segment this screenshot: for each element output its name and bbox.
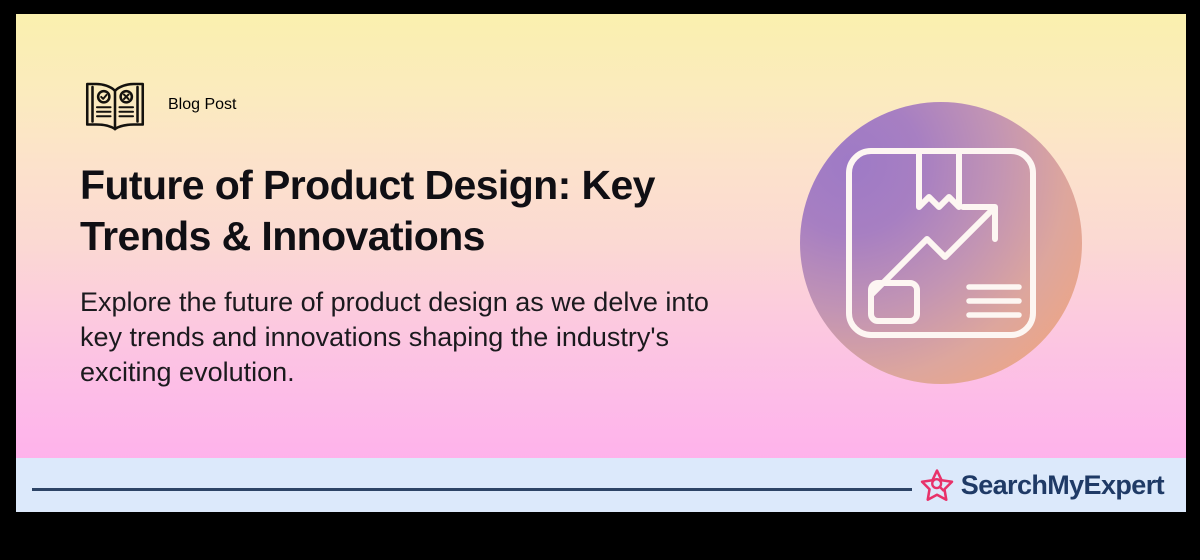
open-book-icon — [80, 78, 150, 132]
banner-content: Blog Post Future of Product Design: Key … — [80, 72, 770, 390]
banner-footer: SearchMyExpert — [16, 458, 1186, 512]
brand-logo[interactable]: SearchMyExpert — [920, 468, 1164, 502]
kicker-row: Blog Post — [80, 72, 770, 138]
footer-divider — [32, 488, 912, 491]
package-growth-chart-icon — [841, 143, 1041, 343]
hero-badge-circle — [800, 102, 1082, 384]
brand-name: SearchMyExpert — [961, 470, 1164, 501]
page-description: Explore the future of product design as … — [80, 285, 740, 390]
blog-post-banner: Blog Post Future of Product Design: Key … — [16, 14, 1186, 512]
star-magnifier-icon — [920, 468, 954, 502]
page-title: Future of Product Design: Key Trends & I… — [80, 160, 720, 263]
kicker-label: Blog Post — [168, 96, 236, 114]
